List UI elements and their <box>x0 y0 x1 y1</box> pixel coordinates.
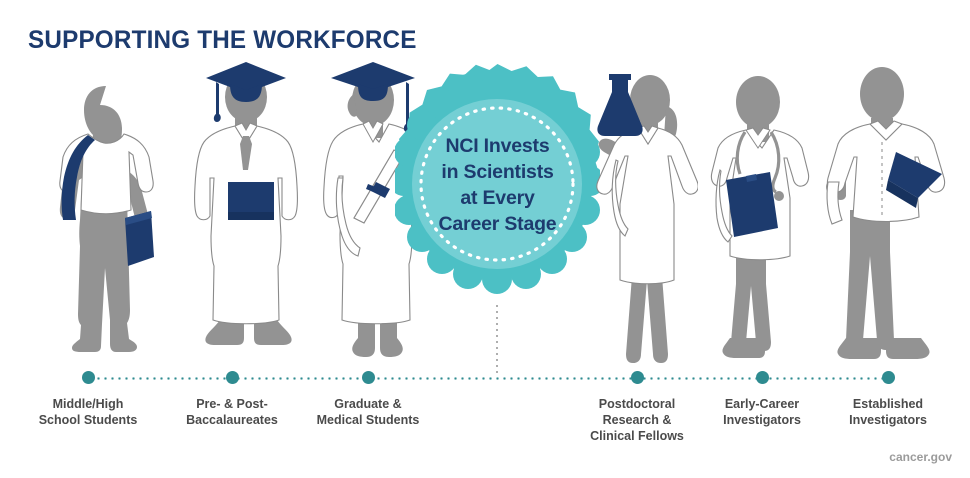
page-title: SUPPORTING THE WORKFORCE <box>28 26 417 55</box>
timeline-dot-established-investigators[interactable] <box>882 371 895 384</box>
badge-inner-disc <box>412 99 582 269</box>
timeline-dot-graduate-medical-students[interactable] <box>362 371 375 384</box>
stage-label-middle-high-school-students: Middle/High School Students <box>8 396 168 428</box>
badge-drop-line <box>496 303 498 377</box>
stage-label-established-investigators: Established Investigators <box>808 396 968 428</box>
figure-postdoctoral-fellow <box>588 68 698 368</box>
figure-early-career-investigator <box>700 70 815 366</box>
figure-established-investigator <box>820 60 950 368</box>
nci-invests-badge: NCI Invests in Scientists at Every Caree… <box>395 62 600 307</box>
lab-coat <box>597 126 698 284</box>
timeline-dot-middle-high-school-students[interactable] <box>82 371 95 384</box>
timeline-dot-early-career-investigators[interactable] <box>756 371 769 384</box>
timeline-dot-pre-post-baccalaureates[interactable] <box>226 371 239 384</box>
site-attribution: cancer.gov <box>889 450 952 464</box>
infographic-canvas: SUPPORTING THE WORKFORCE <box>0 0 970 478</box>
badge-rosette-icon <box>395 62 600 307</box>
stage-label-graduate-medical-students: Graduate & Medical Students <box>288 396 448 428</box>
clipboard-icon <box>726 172 778 237</box>
figure-pre-post-baccalaureate <box>188 62 304 368</box>
diploma-folder-icon <box>228 182 274 220</box>
timeline-dot-postdoctoral-fellows[interactable] <box>631 371 644 384</box>
figure-middle-high-school-student <box>48 78 168 368</box>
book-icon <box>125 211 154 266</box>
